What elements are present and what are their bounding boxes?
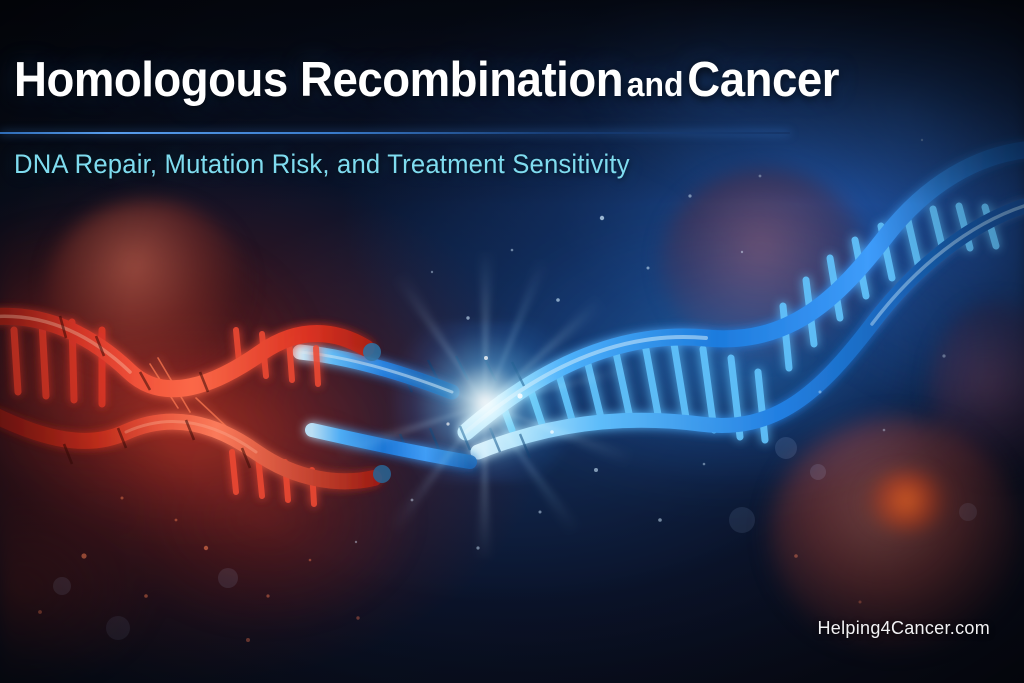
hero-banner: Homologous RecombinationandCancer DNA Re… <box>0 0 1024 683</box>
title-divider <box>0 132 790 134</box>
page-title: Homologous RecombinationandCancer <box>14 56 839 105</box>
page-title-conjunction: and <box>623 66 687 104</box>
page-title-part1: Homologous Recombination <box>14 53 623 107</box>
page-subtitle: DNA Repair, Mutation Risk, and Treatment… <box>14 148 630 180</box>
page-title-part2: Cancer <box>687 53 839 107</box>
site-watermark: Helping4Cancer.com <box>818 618 991 639</box>
